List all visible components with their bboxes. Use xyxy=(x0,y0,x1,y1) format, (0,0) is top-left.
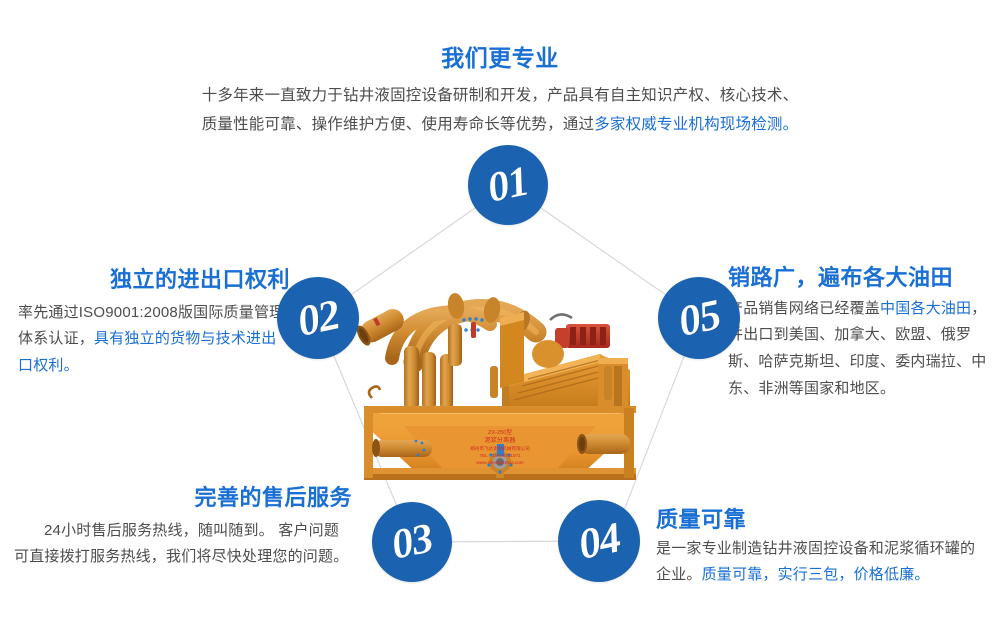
section-01-body-line2-plain: 质量性能可靠、操作维护方便、使用寿命长等优势，通过 xyxy=(202,116,595,133)
section-01-body-line1: 十多年来一直致力于钻井液固控设备研制和开发，产品具有自主知识产权、核心技术、 xyxy=(202,87,799,104)
section-05-title: 销路广，遍布各大油田 xyxy=(728,264,990,292)
section-03-text: 完善的售后服务 24小时售后服务热线，随叫随到。 客户问题可直接拨打服务热线，我… xyxy=(14,484,352,571)
number-badge-05[interactable]: 05 xyxy=(658,277,740,359)
section-01-body-line2-highlight: 多家权威专业机构现场检测。 xyxy=(594,116,798,133)
number-badge-03[interactable]: 03 xyxy=(372,502,452,582)
section-05-body: 产品销售网络已经覆盖中国各大油田，并出口到美国、加拿大、欧盟、俄罗斯、哈萨克斯坦… xyxy=(728,296,990,403)
number-badge-04-label: 04 xyxy=(574,516,623,567)
section-04-body: 是一家专业制造钻井液固控设备和泥浆循环罐的企业。质量可靠，实行三包，价格低廉。 xyxy=(656,536,986,589)
section-02-text: 独立的进出口权利 率先通过ISO9001:2008版国际质量管理体系认证，具有独… xyxy=(18,266,290,380)
section-05-body-highlight: 中国各大油田 xyxy=(880,300,971,317)
label-company: 郑州市飞达泥浆机械有限公司 xyxy=(470,445,530,452)
section-04-title: 质量可靠 xyxy=(656,506,986,534)
section-02-body: 率先通过ISO9001:2008版国际质量管理体系认证，具有独立的货物与技术进出… xyxy=(18,300,290,380)
section-03-body: 24小时售后服务热线，随叫随到。 客户问题可直接拨打服务热线，我们将尽快处理您的… xyxy=(14,518,352,571)
number-badge-05-label: 05 xyxy=(674,293,723,344)
number-badge-03-label: 03 xyxy=(388,517,436,566)
label-name: 泥浆分离器 xyxy=(485,436,517,444)
number-badge-02-label: 02 xyxy=(293,293,342,344)
label-tel: TEL：15936731071 xyxy=(479,453,521,458)
section-01-text: 我们更专业 十多年来一直致力于钻井液固控设备研制和开发，产品具有自主知识产权、核… xyxy=(150,44,850,140)
label-site: www.shenglanhua.com xyxy=(476,460,523,465)
mud-separator-machine-image: ZX-250型 泥浆分离器 郑州市飞达泥浆机械有限公司 TEL：15936731… xyxy=(352,262,648,484)
label-model: ZX-250型 xyxy=(488,428,512,436)
section-04-body-highlight: 质量可靠，实行三包，价格低廉。 xyxy=(702,566,930,583)
section-03-body-plain: 24小时售后服务热线，随叫随到。 客户问题可直接拨打服务热线，我们将尽快处理您的… xyxy=(14,522,348,566)
section-03-title: 完善的售后服务 xyxy=(14,484,352,512)
section-02-title: 独立的进出口权利 xyxy=(18,266,290,294)
section-05-body-plain1: 产品销售网络已经覆盖 xyxy=(728,300,880,317)
infographic-canvas: ZX-250型 泥浆分离器 郑州市飞达泥浆机械有限公司 TEL：15936731… xyxy=(0,0,1000,642)
section-04-text: 质量可靠 是一家专业制造钻井液固控设备和泥浆循环罐的企业。质量可靠，实行三包，价… xyxy=(656,506,986,589)
number-badge-01[interactable]: 01 xyxy=(468,145,548,225)
section-01-body: 十多年来一直致力于钻井液固控设备研制和开发，产品具有自主知识产权、核心技术、 质… xyxy=(150,81,850,140)
number-badge-02[interactable]: 02 xyxy=(277,277,359,359)
section-05-text: 销路广，遍布各大油田 产品销售网络已经覆盖中国各大油田，并出口到美国、加拿大、欧… xyxy=(728,264,990,402)
section-01-title: 我们更专业 xyxy=(150,44,850,73)
number-badge-01-label: 01 xyxy=(484,160,532,209)
number-badge-04[interactable]: 04 xyxy=(558,500,640,582)
